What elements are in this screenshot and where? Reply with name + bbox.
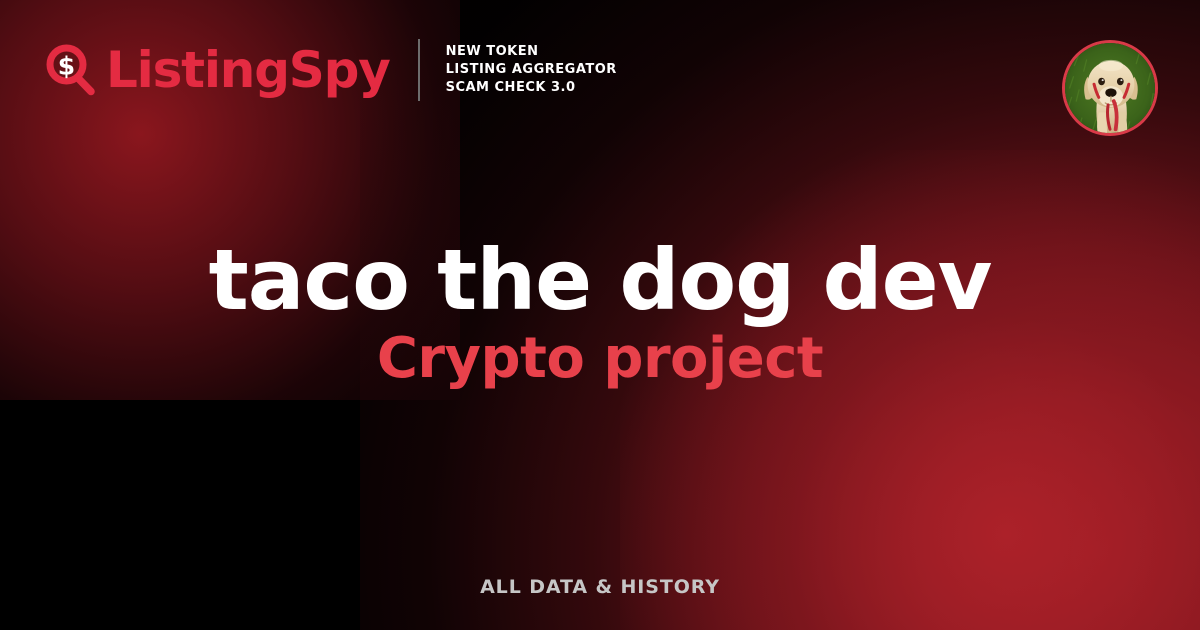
header: $ ListingSpy NEW TOKEN LISTING AGGREGATO… xyxy=(0,0,1200,175)
page-title: taco the dog dev xyxy=(0,238,1200,324)
headline-block: taco the dog dev Crypto project xyxy=(0,238,1200,388)
brand-tagline: NEW TOKEN LISTING AGGREGATOR SCAM CHECK … xyxy=(446,44,617,96)
footer: ALL DATA & HISTORY xyxy=(0,576,1200,598)
svg-text:$: $ xyxy=(58,52,75,81)
footer-text: ALL DATA & HISTORY xyxy=(480,576,720,598)
tagline-line-2: LISTING AGGREGATOR xyxy=(446,62,617,78)
avatar[interactable] xyxy=(1062,40,1158,136)
brand-name: ListingSpy xyxy=(106,45,390,95)
page-subtitle: Crypto project xyxy=(0,330,1200,389)
brand-logo[interactable]: $ ListingSpy NEW TOKEN LISTING AGGREGATO… xyxy=(40,39,617,101)
brand-divider xyxy=(418,39,420,101)
avatar-image xyxy=(1065,43,1155,133)
magnifier-dollar-icon: $ xyxy=(40,40,100,100)
tagline-line-3: SCAM CHECK 3.0 xyxy=(446,80,617,96)
og-card: $ ListingSpy NEW TOKEN LISTING AGGREGATO… xyxy=(0,0,1200,630)
tagline-line-1: NEW TOKEN xyxy=(446,44,617,60)
